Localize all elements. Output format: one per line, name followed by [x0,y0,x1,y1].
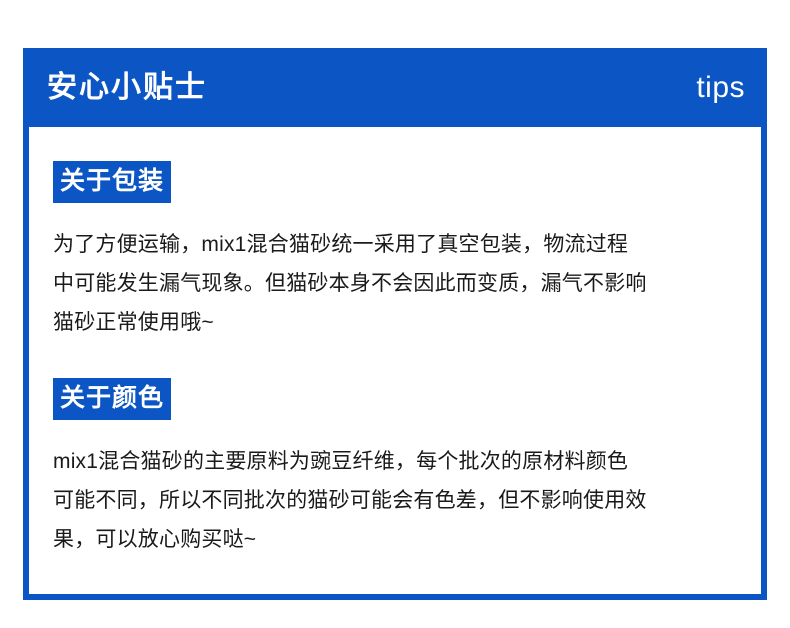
card-header: 安心小贴士 tips [23,48,767,127]
section-text-color: mix1混合猫砂的主要原料为豌豆纤维，每个批次的原材料颜色 可能不同，所以不同批… [53,442,737,559]
tips-page: 安心小贴士 tips 关于包装 为了方便运输，mix1混合猫砂统一采用了真空包装… [0,0,790,628]
page-title: 安心小贴士 [47,73,207,103]
text-line: 果，可以放心购买哒~ [53,520,737,559]
section-badge-packaging: 关于包装 [53,161,171,203]
card-body: 关于包装 为了方便运输，mix1混合猫砂统一采用了真空包装，物流过程 中可能发生… [29,127,761,559]
page-title-english: tips [696,73,745,103]
text-line: 可能不同，所以不同批次的猫砂可能会有色差，但不影响使用效 [53,481,737,520]
section-color: 关于颜色 mix1混合猫砂的主要原料为豌豆纤维，每个批次的原材料颜色 可能不同，… [53,378,737,559]
text-line: 中可能发生漏气现象。但猫砂本身不会因此而变质，漏气不影响 [53,264,737,303]
section-badge-color: 关于颜色 [53,378,171,420]
text-line: 为了方便运输，mix1混合猫砂统一采用了真空包装，物流过程 [53,225,737,264]
tips-card: 安心小贴士 tips 关于包装 为了方便运输，mix1混合猫砂统一采用了真空包装… [23,48,767,600]
text-line: mix1混合猫砂的主要原料为豌豆纤维，每个批次的原材料颜色 [53,442,737,481]
section-text-packaging: 为了方便运输，mix1混合猫砂统一采用了真空包装，物流过程 中可能发生漏气现象。… [53,225,737,342]
text-line: 猫砂正常使用哦~ [53,303,737,342]
section-packaging: 关于包装 为了方便运输，mix1混合猫砂统一采用了真空包装，物流过程 中可能发生… [53,161,737,342]
